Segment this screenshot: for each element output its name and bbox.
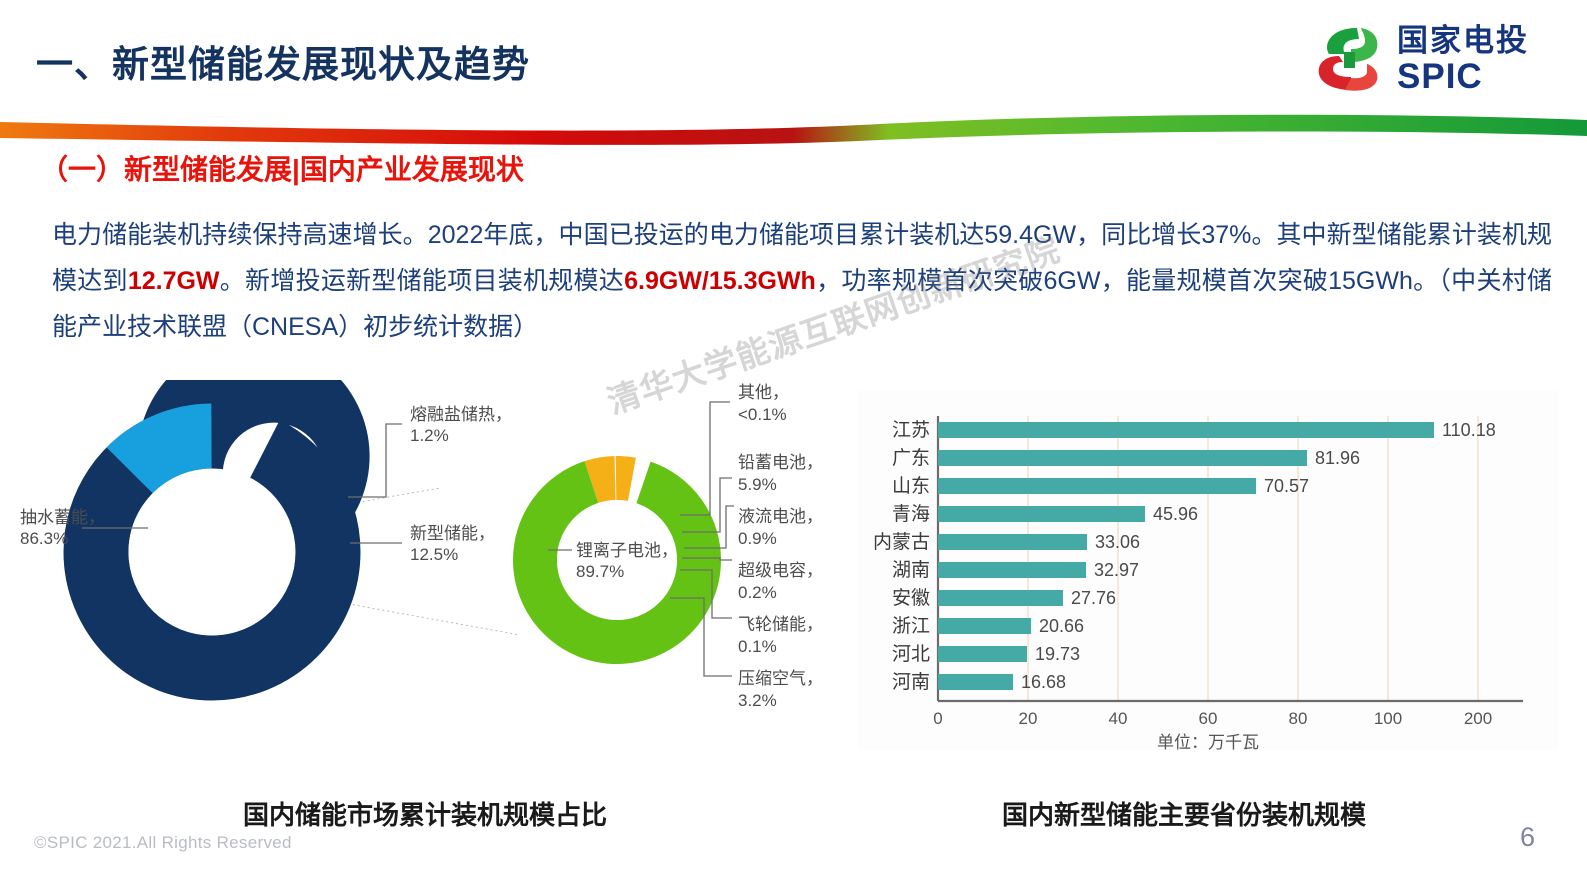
- xtick-0: 0: [933, 709, 942, 728]
- bar-category-shandong: 山东: [892, 475, 930, 497]
- bar-guangdong: [938, 450, 1307, 466]
- bar-henan: [938, 674, 1013, 690]
- page-number: 6: [1520, 822, 1535, 853]
- header-divider-ribbon: [0, 104, 1587, 148]
- bar-jiangsu: [938, 422, 1434, 438]
- bar-value-guangdong: 81.96: [1315, 448, 1360, 468]
- donut2-label-lithium: 锂离子电池，: [576, 541, 678, 560]
- copyright-text: ©SPIC 2021.All Rights Reserved: [34, 833, 292, 853]
- bar-value-hunan: 32.97: [1094, 560, 1139, 580]
- province-capacity-bar-chart: 江苏 110.18 广东 81.96 山东 70.57 青海 45.96 内蒙古…: [858, 390, 1558, 750]
- bar-value-jiangsu: 110.18: [1442, 420, 1496, 440]
- donut-1-slices: [96, 380, 416, 668]
- caption-right-chart: 国内新型储能主要省份装机规模: [1002, 795, 1366, 832]
- donut2-label-flow: 液流电池，: [738, 507, 823, 526]
- donut2-value-supercap: 0.2%: [738, 583, 777, 602]
- bar-hebei: [938, 646, 1027, 662]
- xtick-40: 40: [1109, 709, 1128, 728]
- bar-value-neimenggu: 33.06: [1095, 532, 1140, 552]
- highlight-new-capacity: 6.9GW/15.3GWh: [624, 267, 816, 295]
- bar-category-hebei: 河北: [892, 643, 930, 665]
- bar-category-anhui: 安徽: [892, 587, 930, 609]
- bar-category-guangdong: 广东: [892, 447, 930, 469]
- logo-text-cn: 国家电投: [1397, 25, 1529, 56]
- donut-2-slices: [535, 478, 699, 642]
- bar-category-zhejiang: 浙江: [892, 615, 930, 637]
- body-text-part-2: 。新增投运新型储能项目装机规模达: [220, 267, 625, 295]
- donut1-value-pumped-hydro: 86.3%: [20, 529, 68, 548]
- highlight-capacity-gw: 12.7GW: [128, 267, 220, 295]
- donut2-label-flywheel: 飞轮储能，: [738, 615, 823, 634]
- bar-anhui: [938, 590, 1063, 606]
- xtick-80: 80: [1289, 709, 1308, 728]
- spic-logo: 国家电投 SPIC: [1311, 22, 1529, 96]
- donut2-label-lead-acid: 铅蓄电池，: [738, 453, 823, 472]
- donut2-value-lead-acid: 5.9%: [738, 475, 777, 494]
- donut1-label-molten-salt: 熔融盐储热，: [410, 405, 512, 424]
- charts-area: 抽水蓄能， 86.3% 熔融盐储热， 1.2% 新型储能， 12.5%: [0, 380, 1587, 800]
- bar-neimenggu: [938, 534, 1087, 550]
- xtick-200: 200: [1464, 709, 1492, 728]
- bar-value-shandong: 70.57: [1264, 476, 1309, 496]
- bar-hunan: [938, 562, 1086, 578]
- bar-value-henan: 16.68: [1021, 672, 1066, 692]
- spic-logo-mark-icon: [1311, 22, 1385, 96]
- donut2-label-compressed-air: 压缩空气，: [738, 669, 823, 688]
- donut1-value-new-storage: 12.5%: [410, 545, 458, 564]
- bar-zhejiang: [938, 618, 1031, 634]
- donut1-label-pumped-hydro: 抽水蓄能，: [20, 508, 105, 527]
- body-paragraph: 电力储能装机持续保持高速增长。2022年底，中国已投运的电力储能项目累计装机达5…: [52, 212, 1552, 350]
- bar-shandong: [938, 478, 1256, 494]
- donut-link-lower: [338, 602, 520, 635]
- donut2-value-other: <0.1%: [738, 405, 787, 424]
- bar-qinghai: [938, 506, 1145, 522]
- donut2-value-flywheel: 0.1%: [738, 637, 777, 656]
- bar-category-henan: 河南: [892, 671, 930, 693]
- donut2-label-supercap: 超级电容，: [738, 561, 823, 580]
- section-subtitle: （一）新型储能发展|国内产业发展现状: [40, 148, 524, 188]
- bar-value-hebei: 19.73: [1035, 644, 1080, 664]
- xtick-60: 60: [1199, 709, 1218, 728]
- bar-chart-x-axis-label: 单位：万千瓦: [1157, 733, 1259, 750]
- bar-value-anhui: 27.76: [1071, 588, 1116, 608]
- bar-category-qinghai: 青海: [892, 503, 930, 525]
- donut2-label-other: 其他，: [738, 383, 789, 402]
- donut2-value-lithium: 89.7%: [576, 562, 624, 581]
- donut1-value-molten-salt: 1.2%: [410, 426, 449, 445]
- logo-text-en: SPIC: [1397, 59, 1529, 94]
- bar-category-jiangsu: 江苏: [892, 419, 930, 441]
- storage-share-donut-chart: 抽水蓄能， 86.3% 熔融盐储热， 1.2% 新型储能， 12.5%: [20, 380, 850, 740]
- donut1-label-new-storage: 新型储能，: [410, 524, 495, 543]
- donut2-value-flow: 0.9%: [738, 529, 777, 548]
- bar-value-qinghai: 45.96: [1153, 504, 1198, 524]
- bar-value-zhejiang: 20.66: [1039, 616, 1084, 636]
- xtick-100: 100: [1374, 709, 1402, 728]
- bar-category-neimenggu: 内蒙古: [873, 531, 930, 553]
- bar-category-hunan: 湖南: [892, 559, 930, 581]
- caption-left-chart: 国内储能市场累计装机规模占比: [243, 795, 607, 832]
- donut2-value-compressed-air: 3.2%: [738, 691, 777, 710]
- slide: 一、新型储能发展现状及趋势 国家电投 SPIC: [0, 0, 1587, 892]
- page-title: 一、新型储能发展现状及趋势: [36, 34, 530, 88]
- xtick-20: 20: [1019, 709, 1038, 728]
